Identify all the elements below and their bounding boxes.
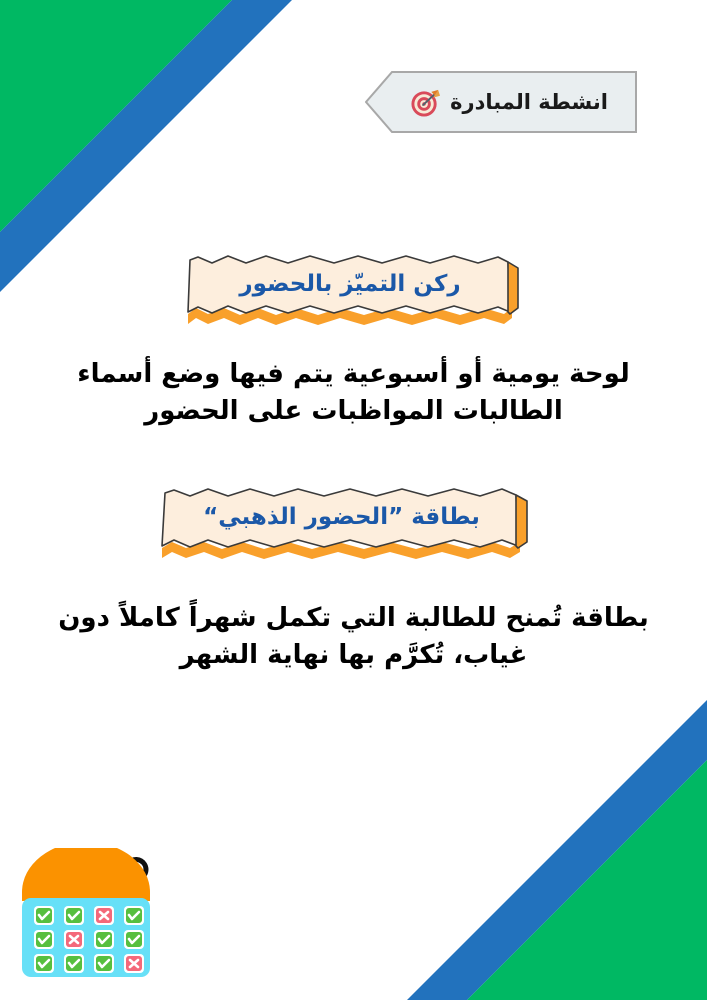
- section-paragraph-2: بطاقة تُمنح للطالبة التي تكمل شهراً كامل…: [30, 600, 677, 674]
- section-paragraph-1: لوحة يومية أو أسبوعية يتم فيها وضع أسماء…: [40, 356, 667, 430]
- section-banner-2-label: بطاقة ”الحضور الذهبي“: [152, 484, 531, 562]
- section-banner-1: ركن التميّز بالحضور: [178, 252, 522, 328]
- section-banner-1-label: ركن التميّز بالحضور: [178, 252, 522, 328]
- page-title: انشطة المبادرة: [450, 92, 608, 113]
- target-dartboard-icon: [410, 87, 441, 118]
- section-banner-2: بطاقة ”الحضور الذهبي“: [152, 484, 531, 562]
- calendar-graphic: [16, 848, 156, 981]
- top-left-green-triangle: [0, 0, 232, 232]
- poster-page: انشطة المبادرة ركن التميّز بالحضور لوحة …: [0, 0, 707, 1000]
- attendance-calendar-icon: [16, 848, 156, 981]
- top-left-blue-stripe: [0, 0, 292, 292]
- calendar-top-bar: [22, 848, 150, 901]
- header-banner: انشطة المبادرة: [365, 71, 637, 133]
- bottom-right-green-triangle: [467, 760, 707, 1000]
- bottom-right-blue-stripe: [407, 700, 707, 1000]
